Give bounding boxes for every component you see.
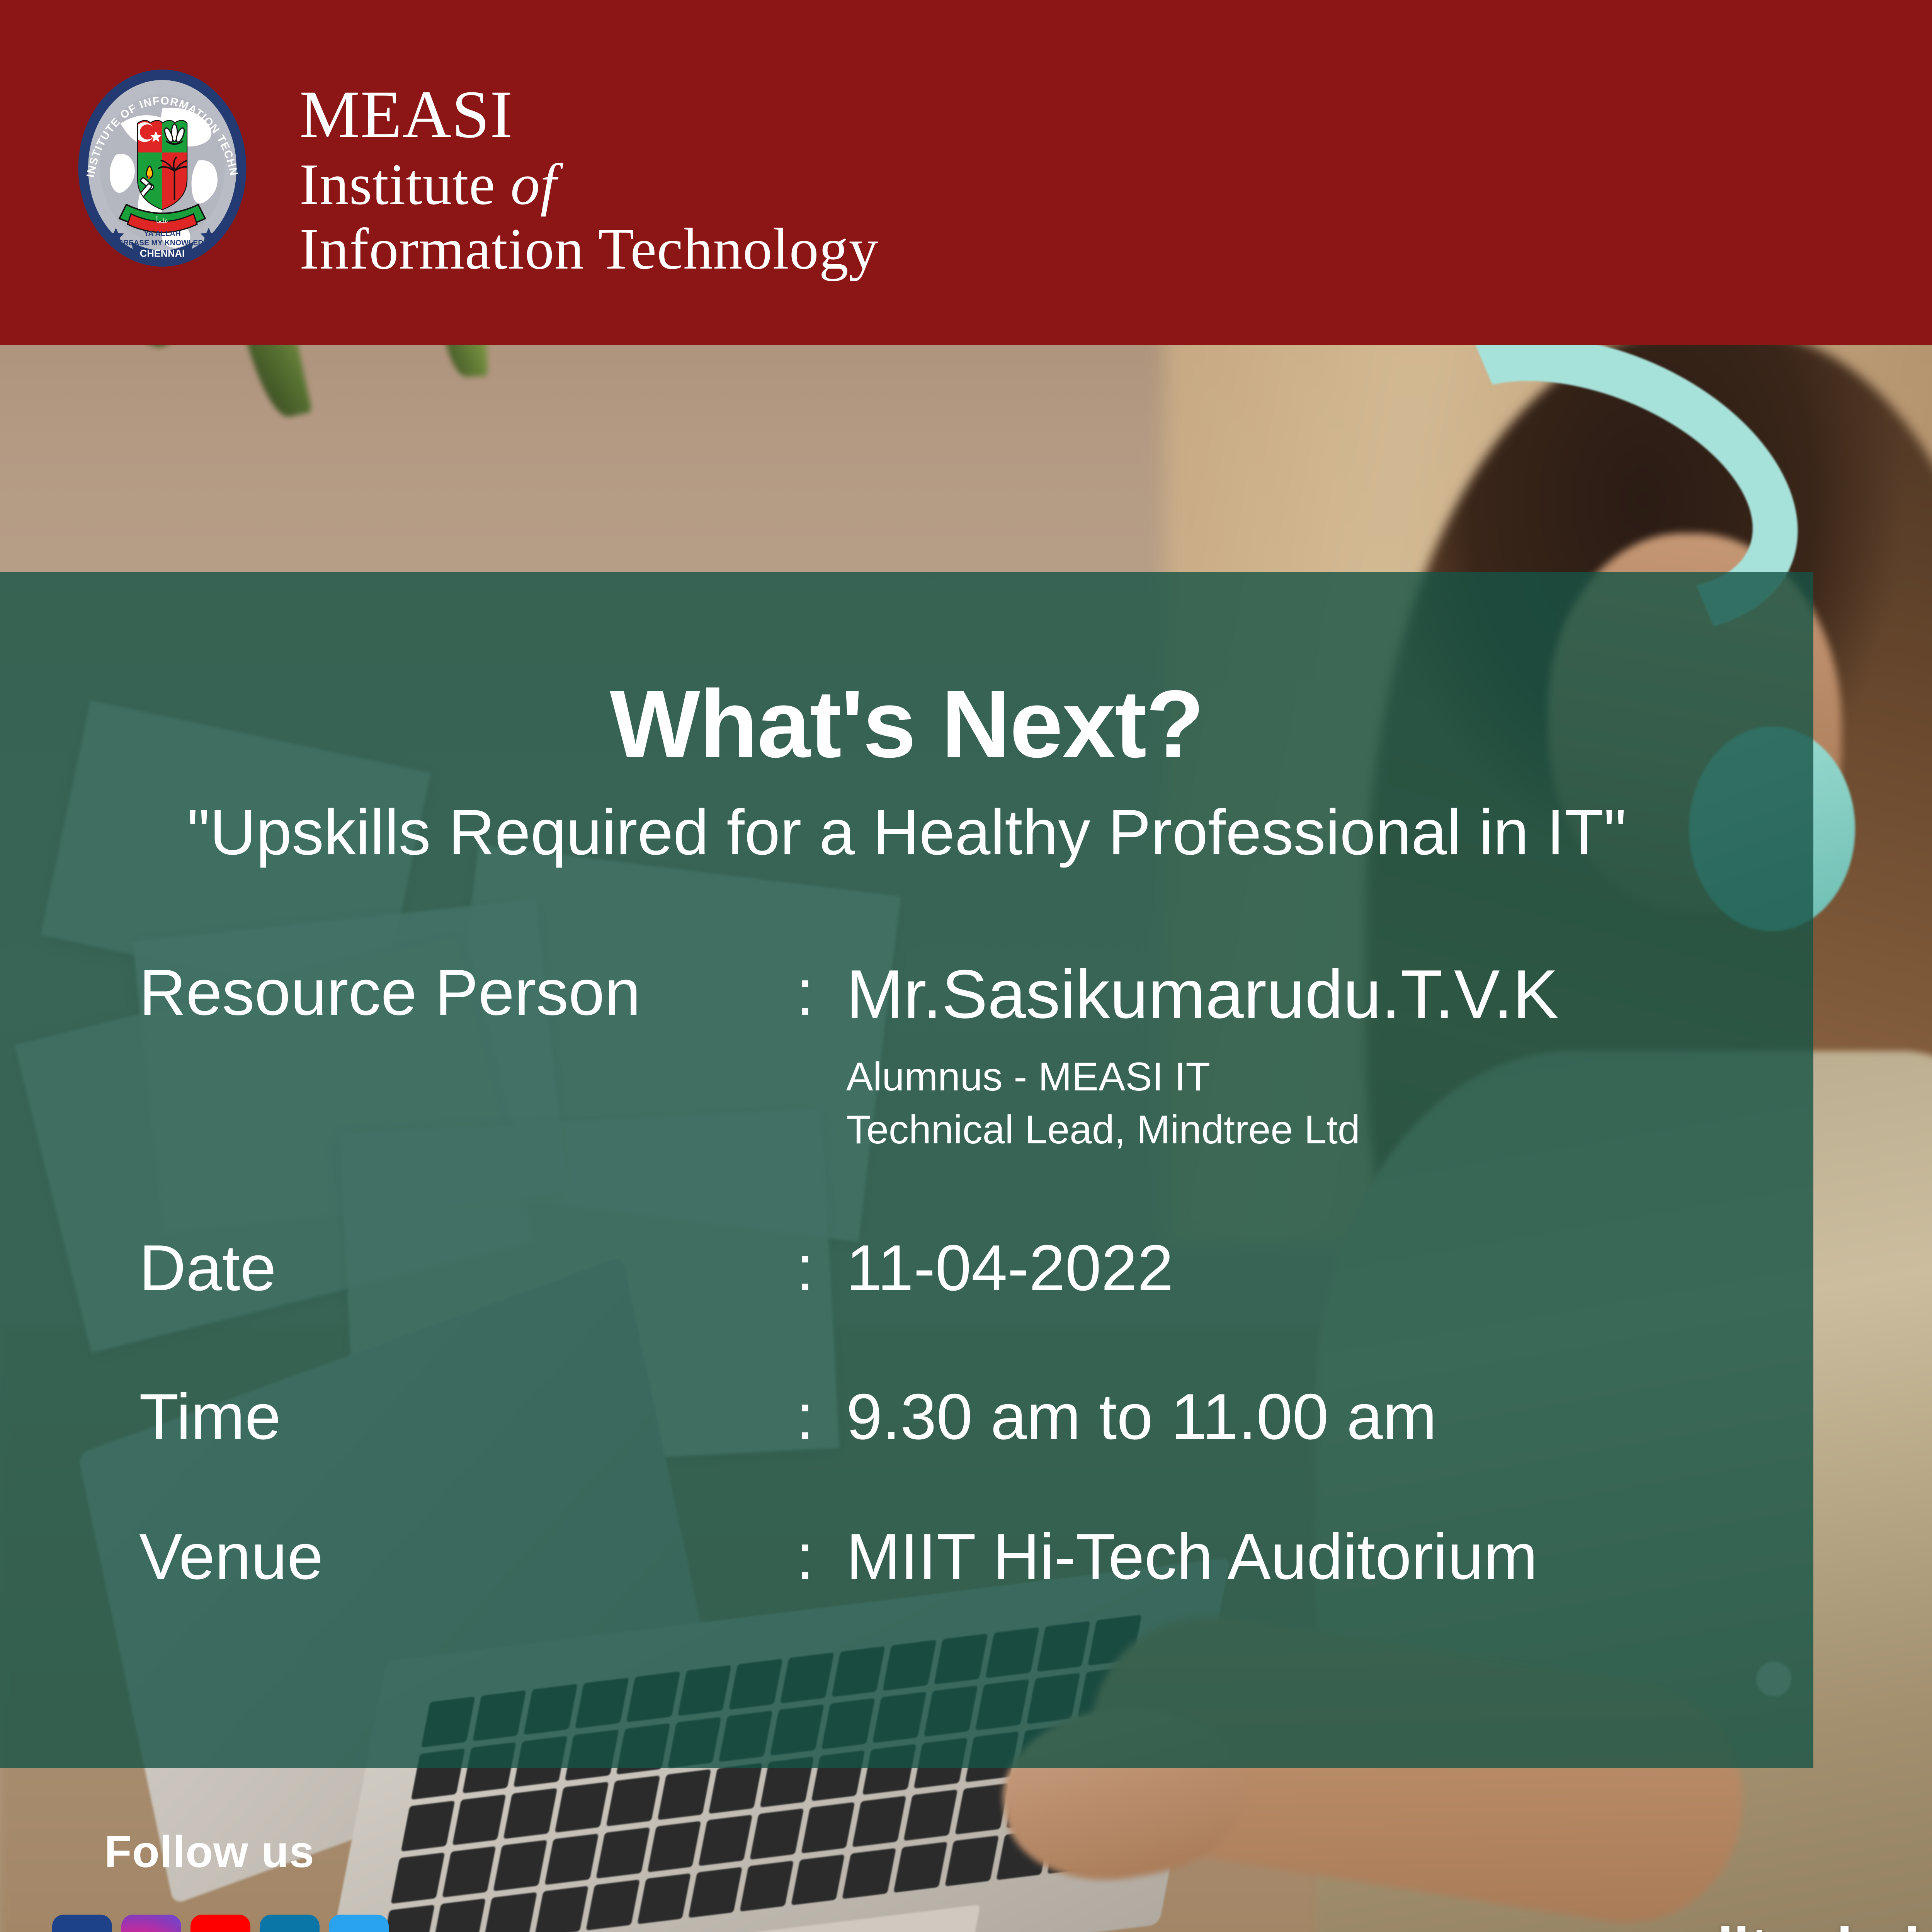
affiliation-line-2: Technical Lead, Mindtree Ltd [846, 1104, 1723, 1156]
brand-of-word: of [510, 152, 557, 217]
detail-row-time: Time : 9.30 am to 11.00 am [139, 1383, 1723, 1451]
event-poster: علماً YA ALLAH INCREASE MY KNOWLEDGE MEA… [0, 0, 1932, 1932]
instagram-icon[interactable] [121, 1915, 181, 1932]
website-url[interactable]: www.measiit.edu.in [1420, 1915, 1932, 1932]
detail-row-date: Date : 11-04-2022 [139, 1234, 1723, 1302]
affiliation-line-1: Alumnus - MEASI IT [846, 1051, 1723, 1104]
brand-line-information-technology: Information Technology [299, 217, 879, 281]
brand-institute-word: Institute [299, 152, 510, 217]
value-venue: MIIT Hi-Tech Auditorium [846, 1522, 1723, 1590]
colon-separator: : [796, 1234, 846, 1302]
value-resource-person: Mr.Sasikumarudu.T.V.K [846, 958, 1723, 1031]
svg-text:علماً: علماً [156, 216, 169, 225]
detail-row-venue: Venue : MIIT Hi-Tech Auditorium [139, 1522, 1723, 1590]
label-date: Date [139, 1234, 796, 1302]
detail-row-resource-person: Resource Person : Mr.Sasikumarudu.T.V.K [139, 958, 1723, 1031]
colon-separator: : [796, 1522, 846, 1590]
brand-title: MEASI Institute of Information Technolog… [299, 77, 879, 281]
poster-header: علماً YA ALLAH INCREASE MY KNOWLEDGE MEA… [0, 0, 1932, 345]
page-title: What's Next? [0, 668, 1813, 779]
follow-us-label: Follow us [104, 1826, 315, 1878]
label-resource-person: Resource Person [139, 958, 796, 1026]
brand-line-institute-of: Institute of [299, 152, 879, 217]
value-date: 11-04-2022 [846, 1234, 1723, 1302]
resource-person-affiliation: Alumnus - MEASI IT Technical Lead, Mindt… [846, 1051, 1723, 1157]
event-details-panel: What's Next? "Upskills Required for a He… [0, 572, 1813, 1768]
youtube-icon[interactable] [190, 1915, 250, 1932]
twitter-icon[interactable] [329, 1915, 389, 1932]
logo-motto-line1: YA ALLAH [144, 230, 180, 238]
logo-banner-chennai: CHENNAI [140, 248, 185, 259]
linkedin-icon[interactable] [260, 1915, 320, 1932]
page-subtitle: "Upskills Required for a Healthy Profess… [0, 796, 1813, 869]
colon-separator: : [796, 958, 846, 1026]
value-time: 9.30 am to 11.00 am [846, 1383, 1723, 1451]
measi-crest-logo: علماً YA ALLAH INCREASE MY KNOWLEDGE MEA… [75, 68, 249, 269]
label-venue: Venue [139, 1522, 796, 1590]
colon-separator: : [796, 1383, 846, 1451]
social-links [52, 1915, 389, 1932]
event-detail-rows: Resource Person : Mr.Sasikumarudu.T.V.K … [139, 958, 1723, 1591]
label-time: Time [139, 1383, 796, 1451]
logo-motto-line2: INCREASE MY KNOWLEDGE [110, 239, 214, 247]
brand-line-measi: MEASI [299, 77, 879, 152]
facebook-icon[interactable] [52, 1915, 112, 1932]
